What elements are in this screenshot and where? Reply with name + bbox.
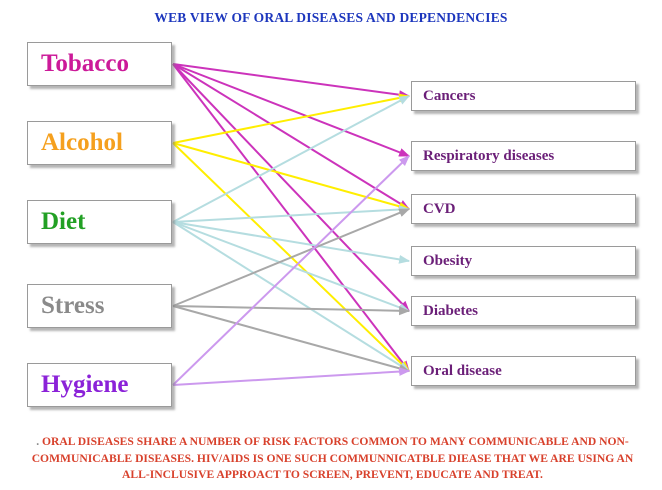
link-hygiene-to-respiratory-diseases — [173, 156, 409, 385]
risk-factor-label: Stress — [28, 292, 104, 320]
risk-factor-node-alcohol[interactable]: Alcohol — [27, 121, 172, 165]
link-diet-to-cancers — [173, 96, 409, 222]
risk-factor-label: Tobacco — [28, 50, 129, 78]
caption: . ORAL DISEASES SHARE A NUMBER OF RISK F… — [20, 434, 645, 484]
risk-factor-node-tobacco[interactable]: Tobacco — [27, 42, 172, 86]
disease-label: CVD — [412, 201, 456, 218]
disease-node-diabetes[interactable]: Diabetes — [411, 296, 636, 326]
disease-label: Oral disease — [412, 363, 502, 380]
link-stress-to-oral-disease — [173, 306, 409, 371]
risk-factor-node-stress[interactable]: Stress — [27, 284, 172, 328]
link-hygiene-to-oral-disease — [173, 371, 409, 385]
oral-disease-dependency-diagram: WEB VIEW OF ORAL DISEASES AND DEPENDENCI… — [0, 0, 662, 490]
disease-label: Respiratory diseases — [412, 148, 554, 165]
disease-label: Diabetes — [412, 303, 478, 320]
link-stress-to-cvd — [173, 209, 409, 306]
disease-node-respiratory-diseases[interactable]: Respiratory diseases — [411, 141, 636, 171]
disease-label: Cancers — [412, 88, 476, 105]
link-tobacco-to-cancers — [173, 64, 409, 96]
disease-node-oral-disease[interactable]: Oral disease — [411, 356, 636, 386]
risk-factor-node-hygiene[interactable]: Hygiene — [27, 363, 172, 407]
risk-factor-label: Hygiene — [28, 371, 129, 399]
caption-text: ORAL DISEASES SHARE A NUMBER OF RISK FAC… — [32, 435, 634, 481]
link-diet-to-obesity — [173, 222, 409, 261]
disease-node-cvd[interactable]: CVD — [411, 194, 636, 224]
link-stress-to-diabetes — [173, 306, 409, 311]
caption-leading-mark: . — [36, 435, 39, 448]
risk-factor-node-diet[interactable]: Diet — [27, 200, 172, 244]
risk-factor-label: Alcohol — [28, 129, 123, 157]
risk-factor-label: Diet — [28, 208, 85, 236]
disease-node-obesity[interactable]: Obesity — [411, 246, 636, 276]
disease-node-cancers[interactable]: Cancers — [411, 81, 636, 111]
link-diet-to-oral-disease — [173, 222, 409, 371]
disease-label: Obesity — [412, 253, 472, 270]
link-diet-to-cvd — [173, 209, 409, 222]
